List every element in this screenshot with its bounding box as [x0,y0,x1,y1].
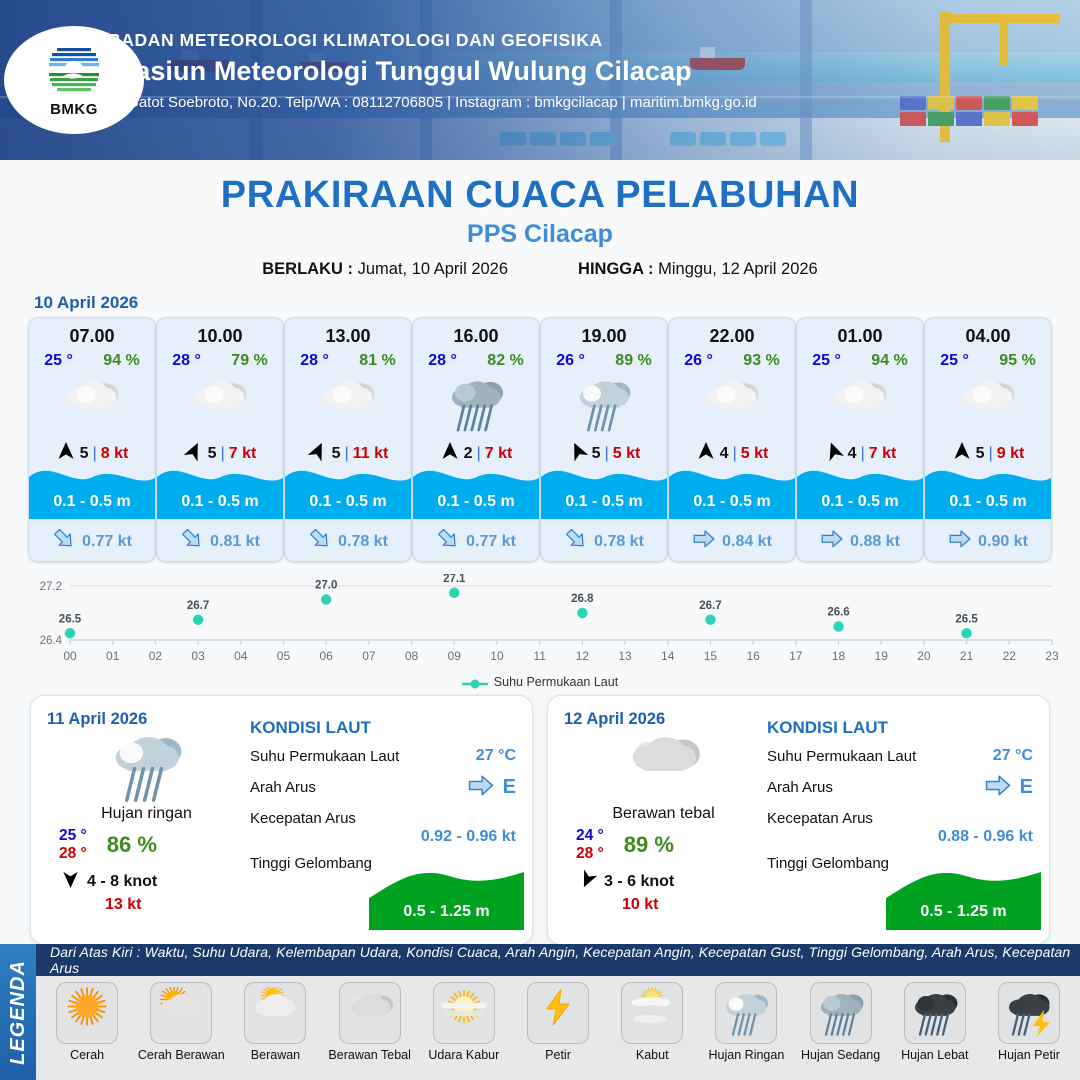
svg-text:07: 07 [362,649,376,663]
card-time: 10.00 [197,326,242,347]
valid-from-value: Jumat, 10 April 2026 [358,260,508,278]
daily-wind: 3 - 6 knot [564,870,763,894]
card-humidity: 79 % [231,352,267,370]
svg-text:11: 11 [533,649,546,663]
valid-until-label: HINGGA : [578,260,653,278]
daily-temp-col: 24 ° 28 ° [576,827,604,863]
svg-text:26.5: 26.5 [955,613,978,625]
card-time: 01.00 [837,326,882,347]
legend-note: Dari Atas Kiri : Waktu, Suhu Udara, Kele… [36,944,1080,976]
wind-direction-arrow-icon [578,870,597,894]
current-direction-value: E [1020,776,1033,799]
legend-item-label: Hujan Ringan [709,1048,785,1062]
daily-sea-column: KONDISI LAUT Suhu Permukaan Laut 27 °C A… [763,696,1049,944]
svg-text:26.7: 26.7 [699,600,721,612]
legend-item-label: Cerah Berawan [138,1048,225,1062]
svg-text:00: 00 [63,649,77,663]
current-direction-row: Arah Arus E [250,774,516,801]
legend-item: Cerah [42,982,132,1062]
daily-humidity: 89 % [624,832,674,858]
daily-sea-column: KONDISI LAUT Suhu Permukaan Laut 27 °C A… [246,696,532,944]
daily-humidity: 86 % [107,832,157,858]
current-speed-value: 0.88 - 0.96 kt [767,828,1033,846]
card-time: 04.00 [965,326,1010,347]
current-speed-value: 0.92 - 0.96 kt [250,828,516,846]
sea-condition-title: KONDISI LAUT [250,718,516,738]
svg-text:17: 17 [789,649,803,663]
weather-lightning-icon [527,982,589,1044]
weather-rain-moderate-icon [446,376,506,434]
card-current: 0.84 kt [669,529,795,554]
daily-temp-max: 28 ° [59,845,87,863]
current-direction-label: Arah Arus [767,779,833,796]
current-direction-arrow-icon [820,529,844,554]
weather-cloudy-icon [62,376,122,434]
svg-text:26.5: 26.5 [59,613,82,625]
daily-wind-range: 4 - 8 knot [87,873,157,891]
card-humidity: 81 % [359,352,395,370]
daily-gust: 13 kt [47,896,246,914]
card-humidity: 93 % [743,352,779,370]
card-wave-zone: 0.1 - 0.5 m [285,457,411,519]
svg-text:27.0: 27.0 [315,580,337,592]
legend-item-label: Hujan Sedang [801,1048,880,1062]
card-wave-zone: 0.1 - 0.5 m [157,457,283,519]
sst-label: Suhu Permukaan Laut [767,748,916,765]
station-name: Stasiun Meteorologi Tunggul Wulung Cilac… [108,56,757,87]
wave-height-value: 0.5 - 1.25 m [886,903,1041,921]
card-humidity: 82 % [487,352,523,370]
daily-condition: Hujan ringan [47,805,246,823]
current-direction-arrow-icon [564,529,588,554]
legend-item: Kabut [607,982,697,1062]
weather-rain-light-icon [47,731,246,803]
page-subtitle: PPS Cilacap [0,220,1080,249]
card-wave-zone: 0.1 - 0.5 m [29,457,155,519]
wind-direction-arrow-icon [61,870,80,894]
daily-gust: 10 kt [564,896,763,914]
forecast-card[interactable]: 16.00 28 ° 82 % 2 | 7 kt 0.1 - 0.5 m 0 [412,317,540,562]
weather-rain-light-icon [574,376,634,434]
daily-temp-min: 24 ° [576,827,604,845]
legend-item-label: Cerah [70,1048,104,1062]
card-time: 07.00 [69,326,114,347]
card-current: 0.77 kt [29,529,155,554]
card-humidity: 94 % [103,352,139,370]
forecast-card[interactable]: 19.00 26 ° 89 % 5 | 5 kt 0.1 - 0.5 m 0 [540,317,668,562]
legend-item-label: Hujan Lebat [901,1048,968,1062]
legend-item: Hujan Lebat [890,982,980,1062]
current-direction-arrow-icon [984,774,1012,801]
current-direction-value-group: E [984,774,1033,801]
wave-height-value: 0.5 - 1.25 m [369,903,524,921]
card-temperature: 28 ° [300,352,329,370]
card-temp-hum: 26 ° 93 % [669,352,795,370]
svg-text:15: 15 [704,649,718,663]
forecast-card[interactable]: 04.00 25 ° 95 % 5 | 9 kt 0.1 - 0.5 m 0 [924,317,1052,562]
card-temp-hum: 28 ° 82 % [413,352,539,370]
card-current-speed: 0.77 kt [466,533,516,551]
weather-rain-heavy-icon [904,982,966,1044]
card-temperature: 25 ° [940,352,969,370]
legend-tab-label: LEGENDA [7,960,30,1065]
current-direction-arrow-icon [308,529,332,554]
validity-row: BERLAKU : Jumat, 10 April 2026 HINGGA : … [0,260,1080,279]
svg-text:20: 20 [917,649,931,663]
card-wave-zone: 0.1 - 0.5 m [669,457,795,519]
card-humidity: 89 % [615,352,651,370]
sst-row: Suhu Permukaan Laut 27 °C [250,747,516,765]
forecast-card[interactable]: 01.00 25 ° 94 % 4 | 7 kt 0.1 - 0.5 m 0 [796,317,924,562]
hourly-forecast-row: 07.00 25 ° 94 % 5 | 8 kt 0.1 - 0.5 m 0 [0,317,1080,562]
svg-text:10: 10 [490,649,504,663]
svg-text:27.1: 27.1 [443,574,466,585]
card-time: 16.00 [453,326,498,347]
daily-wind-range: 3 - 6 knot [604,873,674,891]
bmkg-logo-text: BMKG [50,101,98,118]
svg-text:26.6: 26.6 [827,607,849,619]
weather-sun-cloud-icon [150,982,212,1044]
svg-text:06: 06 [319,649,333,663]
card-wave-height: 0.1 - 0.5 m [29,493,155,511]
daily-forecast-row: 11 April 2026 Hujan ringan 25 ° 28 ° 86 … [0,689,1080,945]
svg-text:09: 09 [448,649,462,663]
forecast-card[interactable]: 07.00 25 ° 94 % 5 | 8 kt 0.1 - 0.5 m 0 [28,317,156,562]
card-temp-hum: 25 ° 94 % [797,352,923,370]
daily-temp-min: 25 ° [59,827,87,845]
card-wave-zone: 0.1 - 0.5 m [925,457,1051,519]
header-text-block: BADAN METEOROLOGI KLIMATOLOGI DAN GEOFIS… [108,30,757,111]
legend-item-label: Berawan [251,1048,300,1062]
card-temp-hum: 25 ° 94 % [29,352,155,370]
legend-item-label: Kabut [636,1048,669,1062]
legend-item: Hujan Sedang [796,982,886,1062]
svg-text:22: 22 [1003,649,1017,663]
legend-item-label: Petir [545,1048,571,1062]
card-temperature: 25 ° [44,352,73,370]
legend-item: Berawan [230,982,320,1062]
daily-condition: Berawan tebal [564,805,763,823]
card-temperature: 28 ° [172,352,201,370]
svg-text:23: 23 [1045,649,1058,663]
valid-until-value: Minggu, 12 April 2026 [658,260,818,278]
card-temperature: 28 ° [428,352,457,370]
chart-legend-marker [462,678,488,686]
svg-text:14: 14 [661,649,675,663]
card-current-speed: 0.78 kt [338,533,388,551]
current-direction-arrow-icon [52,529,76,554]
card-temp-hum: 28 ° 79 % [157,352,283,370]
station-contact: Jl. Gatot Soebroto, No.20. Telp/WA : 081… [108,94,757,111]
card-temperature: 25 ° [812,352,841,370]
legend-body: Dari Atas Kiri : Waktu, Suhu Udara, Kele… [36,944,1080,1080]
card-wave-height: 0.1 - 0.5 m [925,493,1051,511]
svg-text:12: 12 [576,649,590,663]
card-wave-zone: 0.1 - 0.5 m [413,457,539,519]
svg-text:03: 03 [191,649,205,663]
agency-name: BADAN METEOROLOGI KLIMATOLOGI DAN GEOFIS… [108,30,757,51]
svg-text:27.2: 27.2 [40,581,62,593]
svg-text:26.8: 26.8 [571,593,594,605]
legend-item: Berawan Tebal [325,982,415,1062]
card-current: 0.77 kt [413,529,539,554]
valid-from: BERLAKU : Jumat, 10 April 2026 [262,260,508,279]
legend-item: Hujan Ringan [701,982,791,1062]
svg-text:01: 01 [106,649,120,663]
card-current-speed: 0.78 kt [594,533,644,551]
current-direction-arrow-icon [436,529,460,554]
page-header: BMKG BADAN METEOROLOGI KLIMATOLOGI DAN G… [0,0,1080,160]
svg-text:26.7: 26.7 [187,600,209,612]
forecast-date-label: 10 April 2026 [34,293,1080,313]
legend-icon-row: Cerah Cerah Berawan Berawan Berawan Teba… [36,976,1080,1062]
weather-cloudy-icon [830,376,890,434]
current-direction-arrow-icon [692,529,716,554]
card-current: 0.81 kt [157,529,283,554]
legend-item: Hujan Petir [984,982,1074,1062]
card-current-speed: 0.88 kt [850,533,900,551]
card-temp-hum: 25 ° 95 % [925,352,1051,370]
svg-text:19: 19 [875,649,889,663]
daily-forecast-card[interactable]: 11 April 2026 Hujan ringan 25 ° 28 ° 86 … [30,695,533,945]
card-wave-height: 0.1 - 0.5 m [413,493,539,511]
forecast-card[interactable]: 22.00 26 ° 93 % 4 | 5 kt 0.1 - 0.5 m 0 [668,317,796,562]
card-wave-height: 0.1 - 0.5 m [669,493,795,511]
weather-rain-light-icon [715,982,777,1044]
sea-condition-title: KONDISI LAUT [767,718,1033,738]
svg-text:02: 02 [149,649,163,663]
current-direction-value: E [503,776,516,799]
current-direction-arrow-icon [948,529,972,554]
card-temp-hum: 26 ° 89 % [541,352,667,370]
sst-value: 27 °C [993,747,1033,765]
weather-sunny-icon [56,982,118,1044]
svg-text:13: 13 [618,649,632,663]
card-temperature: 26 ° [556,352,585,370]
card-time: 13.00 [325,326,370,347]
weather-cloudy-icon [318,376,378,434]
card-current: 0.78 kt [285,529,411,554]
legend-tab: LEGENDA [0,944,36,1080]
weather-cloud-thick-icon [339,982,401,1044]
card-wave-zone: 0.1 - 0.5 m [541,457,667,519]
forecast-card[interactable]: 13.00 28 ° 81 % 5 | 11 kt 0.1 - 0.5 m [284,317,412,562]
card-wave-height: 0.1 - 0.5 m [285,493,411,511]
card-current: 0.90 kt [925,529,1051,554]
valid-from-label: BERLAKU : [262,260,353,278]
bmkg-logo-mark [43,42,105,100]
weather-cloudy-icon [958,376,1018,434]
sst-chart: 27.226.400010203040506070809101112131415… [22,574,1058,679]
sst-row: Suhu Permukaan Laut 27 °C [767,747,1033,765]
card-temperature: 26 ° [684,352,713,370]
legend-item: Udara Kabur [419,982,509,1062]
svg-text:04: 04 [234,649,248,663]
weather-cloudy-icon [702,376,762,434]
card-wave-height: 0.1 - 0.5 m [797,493,923,511]
daily-temp-max: 28 ° [576,845,604,863]
current-direction-arrow-icon [180,529,204,554]
weather-haze-icon [433,982,495,1044]
card-current-speed: 0.77 kt [82,533,132,551]
card-humidity: 95 % [999,352,1035,370]
card-current-speed: 0.81 kt [210,533,260,551]
svg-text:26.4: 26.4 [40,635,63,647]
current-direction-value-group: E [467,774,516,801]
card-wave-height: 0.1 - 0.5 m [541,493,667,511]
svg-text:05: 05 [277,649,291,663]
current-direction-arrow-icon [467,774,495,801]
weather-rain-moderate-icon [810,982,872,1044]
card-time: 19.00 [581,326,626,347]
forecast-card[interactable]: 10.00 28 ° 79 % 5 | 7 kt 0.1 - 0.5 m 0 [156,317,284,562]
card-current: 0.78 kt [541,529,667,554]
daily-wind: 4 - 8 knot [47,870,246,894]
title-block: PRAKIRAAN CUACA PELABUHAN PPS Cilacap BE… [0,174,1080,279]
current-speed-label: Kecepatan Arus [250,810,516,827]
card-current: 0.88 kt [797,529,923,554]
legend-item: Petir [513,982,603,1062]
svg-text:16: 16 [746,649,760,663]
card-wave-height: 0.1 - 0.5 m [157,493,283,511]
weather-rain-thunder-icon [998,982,1060,1044]
svg-text:21: 21 [960,649,974,663]
legend-item-label: Hujan Petir [998,1048,1060,1062]
legend-item: Cerah Berawan [136,982,226,1062]
legend-item-label: Berawan Tebal [328,1048,410,1062]
card-current-speed: 0.84 kt [722,533,772,551]
sst-value: 27 °C [476,747,516,765]
wave-height-badge: 0.5 - 1.25 m [369,868,524,930]
daily-left-column: 11 April 2026 Hujan ringan 25 ° 28 ° 86 … [31,696,246,944]
daily-temp-humidity: 24 ° 28 ° 89 % [564,827,763,863]
current-speed-label: Kecepatan Arus [767,810,1033,827]
sst-label: Suhu Permukaan Laut [250,748,399,765]
weather-cloud-thick-icon [564,731,763,803]
page-title: PRAKIRAAN CUACA PELABUHAN [0,174,1080,217]
daily-temp-col: 25 ° 28 ° [59,827,87,863]
card-time: 22.00 [709,326,754,347]
legend-item-label: Udara Kabur [428,1048,499,1062]
legend-section: LEGENDA Dari Atas Kiri : Waktu, Suhu Uda… [0,944,1080,1080]
valid-until: HINGGA : Minggu, 12 April 2026 [578,260,818,279]
current-direction-row: Arah Arus E [767,774,1033,801]
card-current-speed: 0.90 kt [978,533,1028,551]
card-wave-zone: 0.1 - 0.5 m [797,457,923,519]
card-humidity: 94 % [871,352,907,370]
svg-text:08: 08 [405,649,419,663]
weather-fog-icon [621,982,683,1044]
daily-temp-humidity: 25 ° 28 ° 86 % [47,827,246,863]
daily-left-column: 12 April 2026 Berawan tebal 24 ° 28 ° 89… [548,696,763,944]
svg-text:18: 18 [832,649,846,663]
daily-forecast-card[interactable]: 12 April 2026 Berawan tebal 24 ° 28 ° 89… [547,695,1050,945]
weather-cloudy-icon [190,376,250,434]
card-temp-hum: 28 ° 81 % [285,352,411,370]
current-direction-label: Arah Arus [250,779,316,796]
wave-height-badge: 0.5 - 1.25 m [886,868,1041,930]
weather-cloud-sun-icon [244,982,306,1044]
